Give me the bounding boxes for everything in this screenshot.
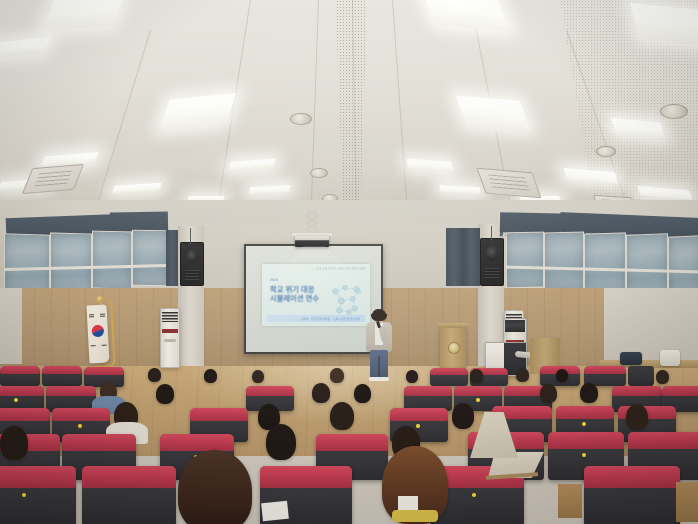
wall-speaker-right — [480, 238, 504, 286]
seat-tag — [582, 422, 586, 426]
ceiling-ac-vent — [476, 168, 541, 199]
attendee-head — [330, 368, 344, 383]
seat-pad — [662, 386, 698, 396]
seat-pad — [42, 366, 82, 374]
seat-row-b — [0, 452, 698, 524]
auditorium-seat[interactable] — [430, 368, 468, 386]
ceiling-light-panel — [439, 185, 481, 194]
attendee-head — [148, 368, 161, 382]
ceiling-light-panel — [228, 158, 275, 170]
slide-footer-band: 교육부 · 한국교육개발원 · 교육시설환경연구센터 — [267, 315, 365, 322]
speaker-cable-left — [190, 228, 191, 244]
seat-tag — [476, 398, 480, 402]
clerestory-window — [132, 230, 168, 287]
seat-pad — [548, 432, 624, 449]
seat-tag — [22, 493, 26, 497]
attendee-head — [156, 384, 174, 404]
auditorium-seat[interactable] — [584, 466, 680, 524]
clerestory-window — [4, 233, 50, 295]
flag-gold-fringe — [84, 299, 116, 368]
seat-pad — [246, 386, 294, 396]
seat-pad — [316, 434, 388, 451]
auditorium-seat[interactable] — [82, 466, 176, 524]
seat-pad — [628, 432, 698, 449]
window-curtain-right — [446, 228, 480, 286]
slide-title-line1: 학교 위기 대응 — [270, 285, 332, 294]
ac-grill-icon — [162, 312, 177, 321]
projection-screen: 한국교육개발원 교육시설환경연구센터 2024 학교 위기 대응 시뮬레이션 연… — [244, 244, 383, 354]
attendee-head — [312, 383, 330, 403]
seat-tag — [14, 398, 18, 402]
slide-brand-line: 한국교육개발원 교육시설환경연구센터 — [316, 267, 366, 271]
attendee-head — [580, 383, 598, 403]
ceiling-seam — [392, 0, 408, 212]
attendee-head — [330, 402, 354, 430]
attendee-head — [516, 368, 529, 382]
bag-dark-backpack — [620, 352, 642, 365]
presenter-hair — [372, 309, 386, 320]
attendee-head — [656, 370, 669, 384]
attendee-head — [556, 369, 568, 382]
air-conditioner-left — [160, 308, 180, 368]
seat-pad — [62, 434, 136, 451]
ceiling-light-panel — [42, 0, 126, 31]
rack-top-module — [505, 320, 525, 332]
attendee-head — [470, 369, 483, 383]
ceiling-ac-vent — [22, 164, 84, 194]
slide-year: 2024 — [270, 278, 278, 282]
speaker-cable-right — [491, 226, 492, 240]
wall-panel-light-left — [0, 288, 22, 364]
seat-armrest — [558, 484, 582, 518]
seat-pad — [0, 386, 44, 396]
ceiling-light-panel — [456, 95, 531, 130]
seat-pad — [82, 466, 176, 488]
ceiling-light-panel — [160, 93, 237, 130]
seat-pad — [430, 368, 468, 375]
seat-pad — [404, 386, 452, 396]
auditorium-seat[interactable] — [0, 466, 76, 524]
seat-pad — [454, 386, 502, 396]
ac-vent-slot — [164, 339, 177, 342]
wall-panel-light-right — [604, 288, 698, 366]
attendee-paper — [261, 501, 289, 522]
ceiling-speaker — [310, 168, 328, 178]
podium-top-surface — [437, 323, 469, 328]
auditorium-photo: 한국교육개발원 교육시설환경연구센터 2024 학교 위기 대응 시뮬레이션 연… — [0, 0, 698, 524]
seat-pad — [160, 434, 234, 451]
ceiling-light-panel — [421, 0, 510, 31]
seat-pad — [390, 408, 448, 421]
bag-white-tote — [660, 350, 680, 366]
seat-pad — [0, 366, 40, 374]
seat-pad — [0, 466, 76, 488]
ceiling-light-panel — [112, 182, 162, 193]
attendee-head — [178, 450, 252, 524]
clerestory-window — [506, 232, 544, 289]
wall-speaker-left — [180, 242, 204, 286]
clerestory-window — [50, 232, 92, 293]
ac-label-band — [162, 329, 177, 333]
column-base-left — [178, 288, 204, 366]
seat-pad — [584, 466, 680, 488]
ceiling-light-panel — [0, 36, 51, 59]
seat-pad — [84, 367, 124, 375]
attendee-head — [252, 370, 264, 383]
attendee-head — [452, 403, 474, 429]
attendee-head — [354, 384, 371, 403]
attendee-head — [204, 369, 217, 383]
screen-surface: 한국교육개발원 교육시설환경연구센터 2024 학교 위기 대응 시뮬레이션 연… — [246, 246, 381, 352]
clerestory-window — [584, 232, 626, 293]
slide-title-line2: 시뮬레이션 연수 — [270, 294, 332, 303]
seat-pad — [612, 386, 662, 396]
ceiling-speaker — [290, 113, 312, 125]
attendee-head — [626, 404, 648, 430]
seat-pad — [556, 406, 614, 419]
slide-footer-note: 교육부 · 한국교육개발원 · 교육시설환경연구센터 — [300, 316, 360, 321]
ceiling-projector — [295, 236, 329, 247]
podium-emblem-icon — [448, 342, 460, 354]
slide-title: 학교 위기 대응 시뮬레이션 연수 — [270, 285, 332, 303]
seat-pad — [190, 408, 248, 421]
seat-pad — [260, 466, 352, 488]
ceiling-seam — [97, 30, 151, 204]
clerestory-window — [544, 232, 584, 291]
network-icon-diagram — [328, 280, 366, 318]
seat-armrest — [676, 482, 698, 522]
auditorium-seat[interactable] — [0, 366, 40, 386]
attendee-head — [540, 384, 557, 403]
attendee-head — [406, 370, 418, 383]
seat-pad — [584, 366, 626, 374]
ceiling-light-panel — [406, 158, 453, 171]
ceiling-speaker — [660, 104, 688, 119]
clerestory-window — [92, 231, 132, 290]
seat-tag — [472, 493, 476, 497]
seat-pad — [0, 408, 50, 421]
seat-pad — [52, 408, 110, 421]
seat-pad — [46, 386, 96, 396]
ceiling-light-panel — [249, 185, 291, 194]
attendee-paper — [398, 496, 418, 510]
auditorium-seat[interactable] — [42, 366, 82, 386]
projected-slide: 한국교육개발원 교육시설환경연구센터 2024 학교 위기 대응 시뮬레이션 연… — [262, 264, 370, 326]
ceiling — [0, 0, 698, 212]
attendee-collar — [392, 510, 438, 522]
ceiling-seam — [311, 0, 319, 212]
ceiling-speaker — [596, 146, 616, 157]
